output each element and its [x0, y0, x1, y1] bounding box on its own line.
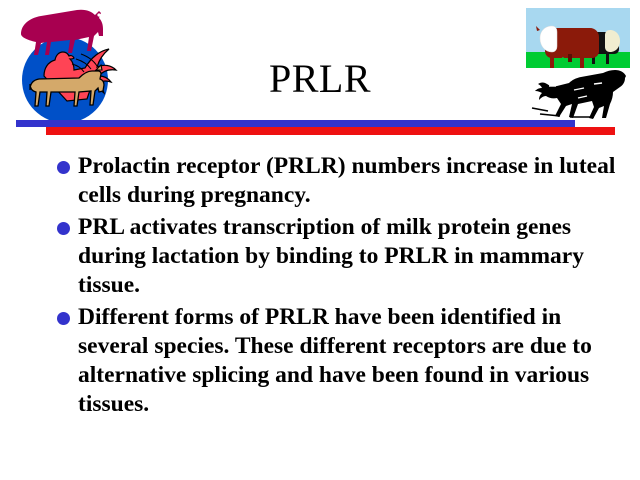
cattle-in-pasture-photo [526, 8, 630, 68]
bullet-circle-icon [57, 312, 70, 325]
list-item: Prolactin receptor (PRLR) numbers increa… [56, 152, 632, 210]
bullet-list: Prolactin receptor (PRLR) numbers increa… [56, 152, 632, 422]
header-artwork-right [518, 4, 636, 128]
bullet-text: Prolactin receptor (PRLR) numbers increa… [78, 152, 632, 210]
slide-canvas: PRLR Prolactin receptor (PRLR) numbers i… [0, 0, 640, 480]
bullet-text: PRL activates transcription of milk prot… [78, 213, 632, 300]
list-item: PRL activates transcription of milk prot… [56, 213, 632, 300]
bullet-text: Different forms of PRLR have been identi… [78, 303, 632, 419]
divider-bar-red [46, 127, 615, 135]
page-title: PRLR [120, 55, 520, 103]
bullet-circle-icon [57, 222, 70, 235]
galloping-horse-silhouette [532, 70, 626, 119]
divider-bar-blue [16, 120, 575, 127]
list-item: Different forms of PRLR have been identi… [56, 303, 632, 419]
bullet-circle-icon [57, 161, 70, 174]
animal-sciences-logo [8, 2, 120, 128]
